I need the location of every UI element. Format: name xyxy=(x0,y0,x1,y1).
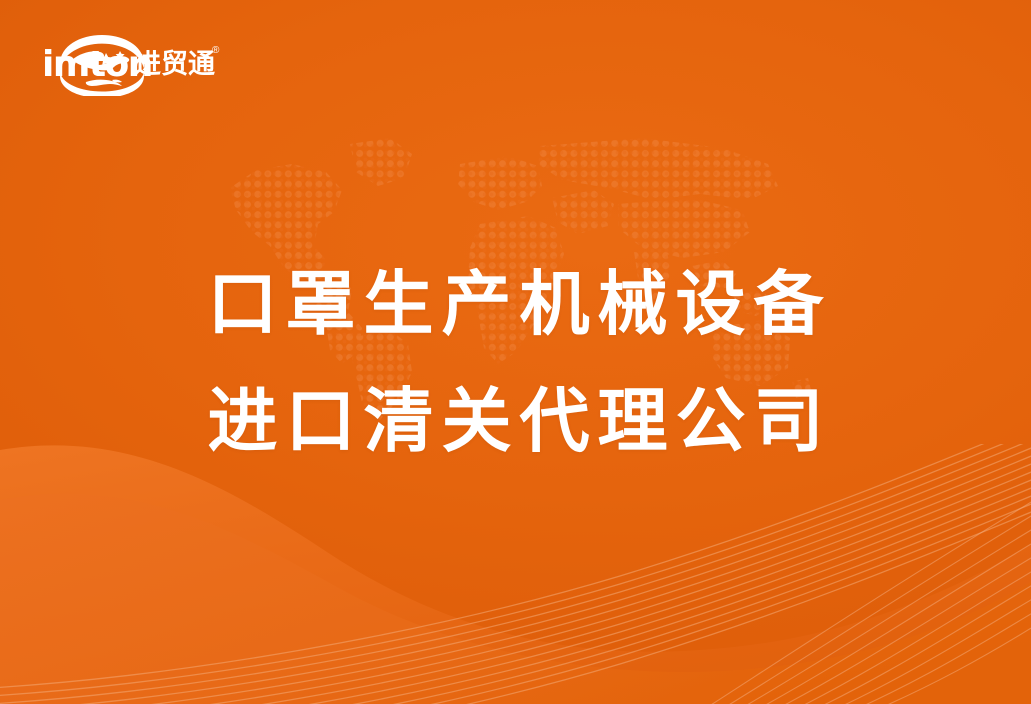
ribbon-lines-decoration xyxy=(0,444,1031,704)
headline-line-2: 进口清关代理公司 xyxy=(0,363,1031,480)
brand-logo[interactable]: imton 进贸通 ® xyxy=(42,34,222,96)
registered-mark-icon: ® xyxy=(212,46,219,56)
headline-line-1: 口罩生产机械设备 xyxy=(0,246,1031,363)
page-title: 口罩生产机械设备 进口清关代理公司 xyxy=(0,246,1031,480)
promo-banner: imton 进贸通 ® 口罩生产机械设备 进口清关代理公司 xyxy=(0,0,1031,704)
logo-chinese-name: 进贸通 xyxy=(134,51,215,78)
